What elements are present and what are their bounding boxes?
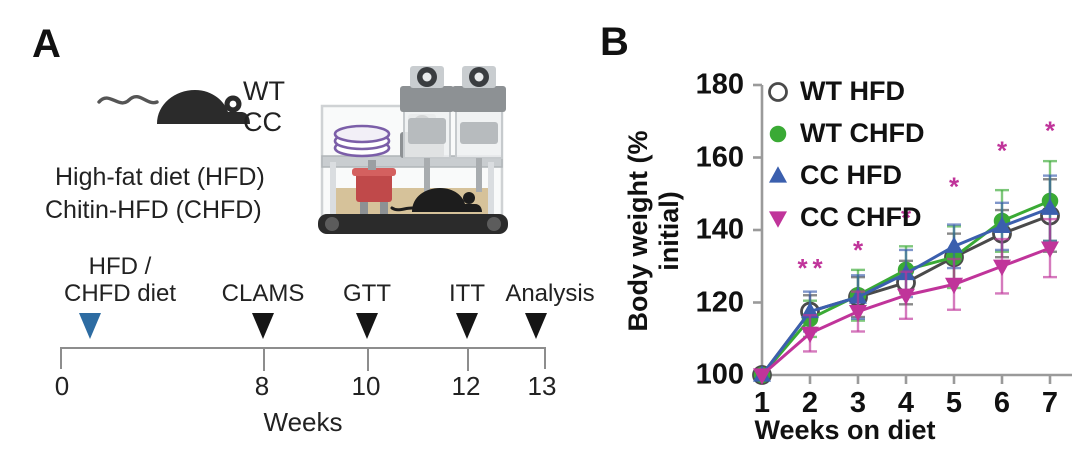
legend-marker-cc-chfd	[770, 212, 786, 227]
legend-label-wt-chfd: WT CHFD	[800, 118, 924, 149]
genotype-list: WT CC	[243, 76, 285, 138]
x-tick-label-4: 4	[898, 387, 914, 420]
timeline-axis-caption: Weeks	[264, 407, 343, 438]
timeline-event-label-diet: HFD / CHFD diet	[60, 253, 180, 307]
legend-marker-wt-hfd	[770, 84, 787, 101]
legend-marker-cc-hfd	[770, 168, 786, 183]
x-tick-label-1: 1	[754, 387, 770, 420]
significance-asterisk: *	[997, 135, 1008, 165]
panel-a-label: A	[32, 22, 60, 67]
timeline-num-13: 13	[528, 371, 557, 402]
legend-marker-wt-chfd	[771, 127, 786, 142]
genotype-cc: CC	[243, 107, 285, 138]
timeline-tick-12	[467, 349, 469, 371]
study-timeline: HFD / CHFD diet CLAMS GTT ITT Analysis 0…	[60, 255, 605, 435]
timeline-event-label-itt: ITT	[437, 280, 497, 308]
timeline-num-0: 0	[55, 371, 69, 402]
timeline-tick-10	[367, 349, 369, 371]
timeline-num-12: 12	[452, 371, 481, 402]
x-tick-label-3: 3	[850, 387, 866, 420]
y-tick-label-100: 100	[674, 359, 744, 392]
timeline-event-label-gtt: GTT	[332, 280, 402, 308]
timeline-arrow-clams	[252, 313, 274, 339]
metabolic-cage-icon	[308, 62, 518, 252]
y-tick-label-120: 120	[674, 286, 744, 319]
panel-b: B Body weight (% initial) Weeks on diet …	[610, 0, 1080, 454]
x-tick-label-7: 7	[1042, 387, 1058, 420]
significance-asterisk: *	[797, 253, 808, 283]
timeline-tick-8	[263, 349, 265, 371]
y-tick-label-140: 140	[674, 214, 744, 247]
x-tick-label-6: 6	[994, 387, 1010, 420]
panel-a: A WT CC High-fat diet (HFD) Chitin-HFD (…	[0, 0, 610, 454]
timeline-arrow-gtt	[356, 313, 378, 339]
significance-asterisk: *	[1045, 115, 1056, 145]
legend-label-cc-chfd: CC CHFD	[800, 202, 922, 233]
diet-label-chfd: Chitin-HFD (CHFD)	[45, 196, 262, 225]
series-cc-chfd	[754, 219, 1058, 383]
significance-asterisk: *	[949, 172, 960, 202]
significance-asterisk: *	[812, 253, 823, 283]
diet-label-hfd: High-fat diet (HFD)	[55, 163, 265, 192]
legend-label-wt-hfd: WT HFD	[800, 76, 905, 107]
timeline-arrow-analysis	[525, 313, 547, 339]
significance-asterisk: *	[853, 235, 864, 265]
y-tick-label-180: 180	[674, 69, 744, 102]
timeline-axis	[60, 347, 546, 369]
legend-label-cc-hfd: CC HFD	[800, 160, 902, 191]
timeline-num-10: 10	[352, 371, 381, 402]
timeline-arrow-diet	[79, 313, 101, 339]
x-tick-label-5: 5	[946, 387, 962, 420]
timeline-num-8: 8	[255, 371, 269, 402]
mouse-icon	[95, 76, 250, 138]
timeline-arrow-itt	[456, 313, 478, 339]
x-tick-label-2: 2	[802, 387, 818, 420]
timeline-event-label-clams: CLAMS	[208, 280, 318, 308]
timeline-event-label-analysis: Analysis	[490, 280, 610, 308]
genotype-wt: WT	[243, 76, 285, 107]
y-tick-label-160: 160	[674, 141, 744, 174]
